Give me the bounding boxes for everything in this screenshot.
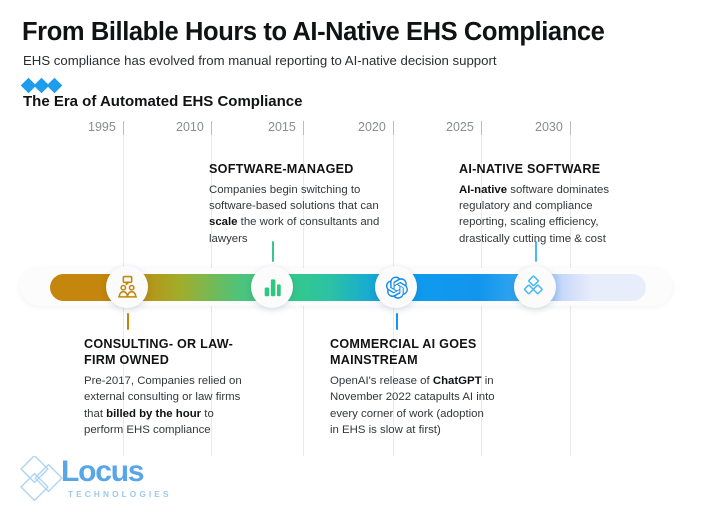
bar-chart-icon (260, 275, 285, 300)
milestone-body: Pre-2017, Companies relied on external c… (84, 373, 252, 438)
milestone-heading: COMMERCIAL AI GOES MAINSTREAM (330, 336, 495, 368)
timeline-year-label: 2025 (446, 120, 474, 134)
openai-logo-icon (384, 275, 409, 300)
infographic-root: From Billable Hours to AI-Native EHS Com… (0, 0, 705, 513)
connector-commercial-ai (396, 313, 398, 330)
timeline-year-label: 2020 (358, 120, 386, 134)
page-title: From Billable Hours to AI-Native EHS Com… (22, 18, 604, 47)
section-title: The Era of Automated EHS Compliance (23, 93, 303, 110)
timeline-node-software-managed[interactable] (251, 266, 293, 308)
connector-consulting (127, 313, 129, 330)
timeline-year-tick (481, 121, 482, 135)
timeline-year-label: 1995 (88, 120, 116, 134)
milestone-heading: CONSULTING- OR LAW-FIRM OWNED (84, 336, 252, 368)
timeline-year-axis: 199520102015202020252030 (0, 120, 705, 140)
milestone-body: AI-native software dominates regulatory … (459, 182, 634, 247)
milestone-ai-native: AI-NATIVE SOFTWARE AI-native software do… (459, 161, 634, 247)
timeline-year-tick (211, 121, 212, 135)
locus-diamonds-icon (522, 274, 548, 300)
milestone-commercial-ai: COMMERCIAL AI GOES MAINSTREAM OpenAI's r… (330, 336, 495, 438)
page-subtitle: EHS compliance has evolved from manual r… (23, 53, 497, 68)
timeline-year-label: 2015 (268, 120, 296, 134)
milestone-consulting: CONSULTING- OR LAW-FIRM OWNED Pre-2017, … (84, 336, 252, 438)
milestone-body: Companies begin switching to software-ba… (209, 182, 384, 247)
timeline-node-consulting[interactable] (106, 266, 148, 308)
timeline-year-label: 2010 (176, 120, 204, 134)
locus-wordmark: Locus (61, 457, 143, 487)
milestone-software-managed: SOFTWARE-MANAGED Companies begin switchi… (209, 161, 384, 247)
milestone-heading: AI-NATIVE SOFTWARE (459, 161, 634, 177)
diamond-bullet-group (23, 80, 60, 91)
timeline-year-label: 2030 (535, 120, 563, 134)
timeline-year-tick (393, 121, 394, 135)
milestone-heading: SOFTWARE-MANAGED (209, 161, 384, 177)
diamond-icon (47, 78, 63, 94)
consulting-people-icon (115, 275, 140, 300)
locus-logo: Locus TECHNOLOGIES (14, 456, 184, 506)
timeline-year-tick (570, 121, 571, 135)
timeline-year-tick (303, 121, 304, 135)
timeline-node-commercial-ai[interactable] (375, 266, 417, 308)
timeline-year-tick (123, 121, 124, 135)
milestone-body: OpenAI's release of ChatGPT in November … (330, 373, 495, 438)
locus-tagline: TECHNOLOGIES (68, 489, 172, 499)
timeline-node-ai-native[interactable] (514, 266, 556, 308)
